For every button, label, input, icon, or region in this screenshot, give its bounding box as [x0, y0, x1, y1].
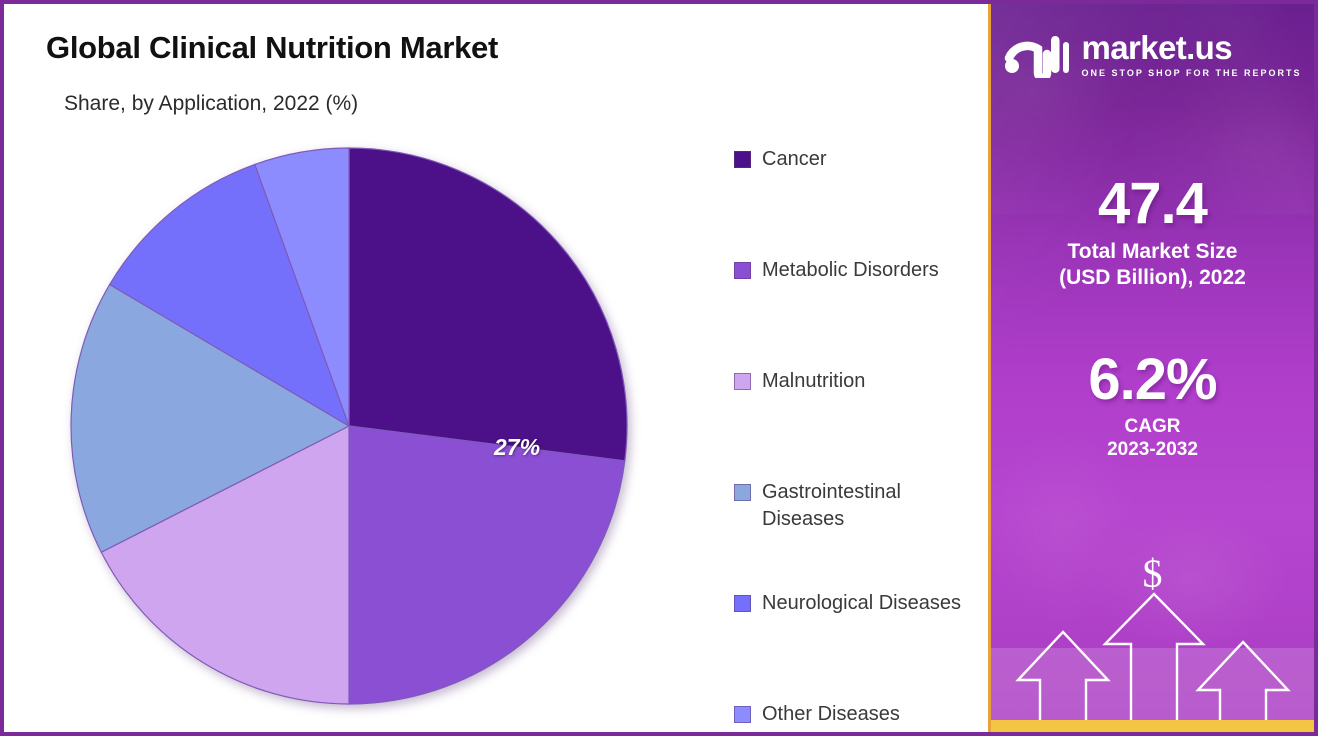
pie-slice[interactable]: [349, 148, 627, 461]
legend-item-gastrointestinal-diseases[interactable]: Gastrointestinal Diseases: [734, 479, 984, 576]
stat-label-line1: Total Market Size: [991, 239, 1314, 265]
growth-arrows-graphic: $: [991, 532, 1314, 732]
page-title: Global Clinical Nutrition Market: [46, 30, 498, 66]
legend-item-malnutrition[interactable]: Malnutrition: [734, 368, 984, 465]
stat-label-line1: CAGR: [991, 415, 1314, 438]
legend-item-neurological-diseases[interactable]: Neurological Diseases: [734, 590, 984, 687]
legend-swatch-icon: [734, 373, 751, 390]
pie-slice[interactable]: [349, 426, 625, 704]
legend-item-label: Gastrointestinal Diseases: [762, 479, 972, 533]
legend-item-label: Other Diseases: [762, 701, 900, 728]
legend-item-label: Metabolic Disorders: [762, 257, 939, 284]
arrows-svg: [991, 532, 1314, 732]
arrow-up-center-icon: [1105, 594, 1203, 732]
logo-tagline: ONE STOP SHOP FOR THE REPORTS: [1081, 69, 1301, 78]
legend-item-label: Cancer: [762, 146, 826, 173]
dollar-sign-icon: $: [991, 554, 1314, 594]
pie-svg: [69, 146, 629, 706]
legend-item-label: Neurological Diseases: [762, 590, 961, 617]
market-us-logo-mark-icon: [1003, 30, 1069, 78]
arrow-up-right-icon: [1198, 642, 1288, 732]
logo-wordmark: market.us: [1081, 31, 1232, 64]
market-us-logo[interactable]: market.us ONE STOP SHOP FOR THE REPORTS: [991, 30, 1314, 78]
legend-swatch-icon: [734, 151, 751, 168]
arrow-up-left-icon: [1018, 632, 1108, 732]
legend-item-label: Malnutrition: [762, 368, 865, 395]
pie-chart: 27%: [69, 146, 631, 712]
legend-swatch-icon: [734, 595, 751, 612]
brand-panel: market.us ONE STOP SHOP FOR THE REPORTS …: [988, 4, 1314, 732]
legend-swatch-icon: [734, 706, 751, 723]
stat-value: 6.2%: [991, 350, 1314, 409]
panel-bottom-band: [991, 648, 1314, 720]
legend-item-other-diseases[interactable]: Other Diseases: [734, 701, 984, 736]
legend-swatch-icon: [734, 484, 751, 501]
panel-gold-accent-bar: [991, 720, 1314, 732]
stat-cagr: 6.2% CAGR 2023-2032: [991, 350, 1314, 462]
infographic-frame: Global Clinical Nutrition Market Share, …: [0, 0, 1318, 736]
stat-value: 47.4: [991, 174, 1314, 233]
chart-legend: Cancer Metabolic Disorders Malnutrition …: [734, 146, 984, 736]
pie-graphic: [69, 146, 629, 706]
stat-label-line2: 2023-2032: [991, 438, 1314, 461]
stat-total-market-size: 47.4 Total Market Size (USD Billion), 20…: [991, 174, 1314, 290]
stat-label-line2: (USD Billion), 2022: [991, 265, 1314, 291]
legend-item-cancer[interactable]: Cancer: [734, 146, 984, 243]
legend-swatch-icon: [734, 262, 751, 279]
legend-item-metabolic-disorders[interactable]: Metabolic Disorders: [734, 257, 984, 354]
chart-subtitle: Share, by Application, 2022 (%): [64, 92, 358, 116]
chart-panel: Global Clinical Nutrition Market Share, …: [4, 4, 988, 732]
